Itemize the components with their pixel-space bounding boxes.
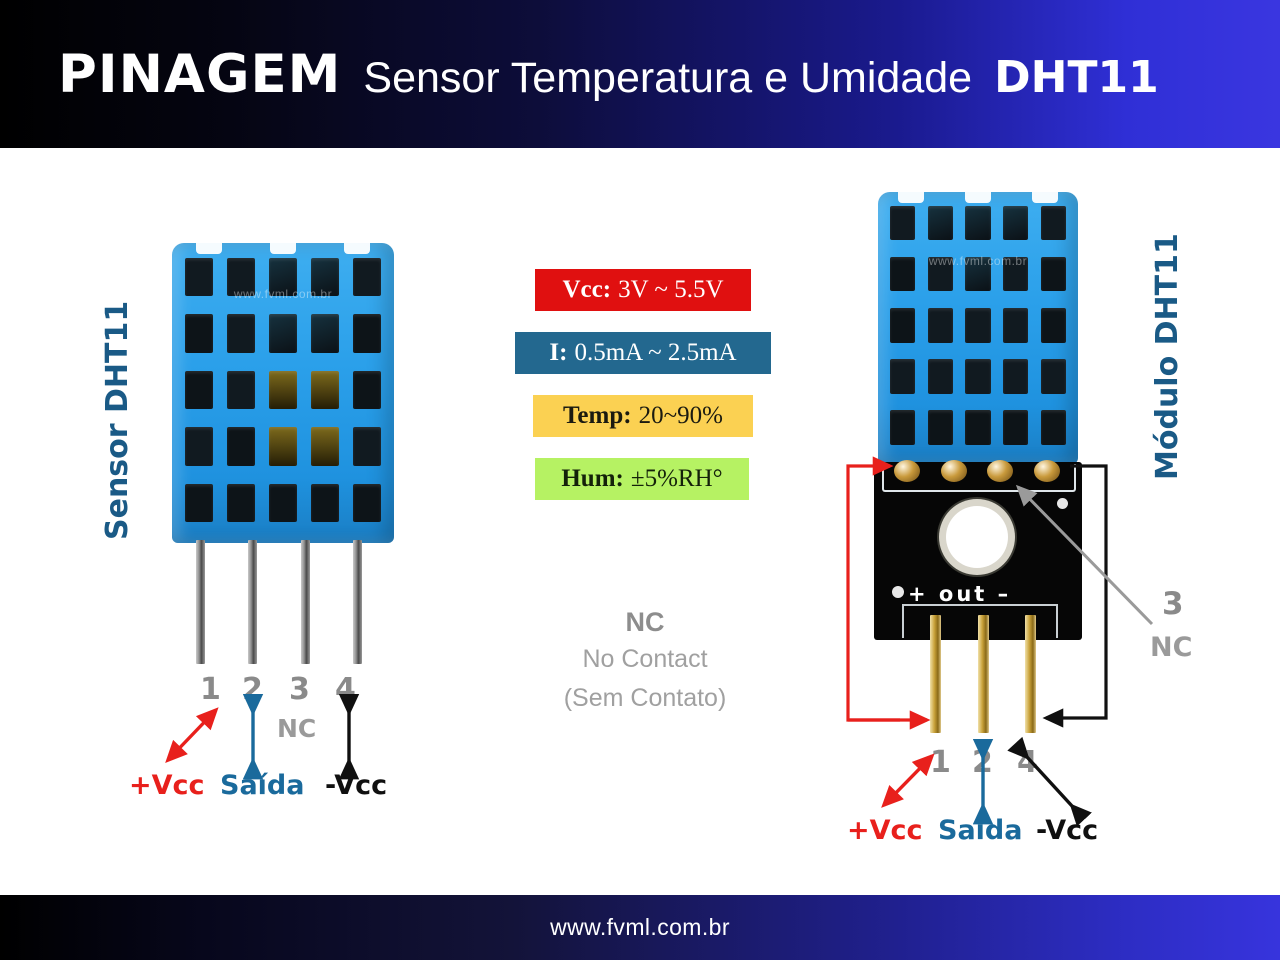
nc-note-line-1: No Contact: [520, 640, 770, 679]
module-nc-marker: NC: [1150, 632, 1192, 663]
pin: [196, 540, 205, 664]
nc-note: NC No Contact (Sem Contato): [520, 604, 770, 718]
header-subtitle: Sensor Temperatura e Umidade: [363, 57, 972, 100]
module-sensor-grille: [890, 206, 1066, 445]
dht11-sensor-image: www.fvml.com.br: [172, 243, 394, 543]
module-pin-number-1: 1: [930, 745, 951, 780]
arrow-module-vcc: [884, 756, 932, 805]
module-pcb: + out –: [874, 462, 1082, 640]
spec-temperature-key: Temp:: [563, 402, 632, 430]
sensor-nc-marker: NC: [277, 714, 316, 743]
spec-temperature: Temp: 20~90%: [533, 395, 753, 437]
notch: [1032, 192, 1058, 203]
notch: [270, 243, 296, 254]
pcb-pin1-marker: [892, 586, 904, 598]
pcb-silkscreen-label: + out –: [908, 582, 1048, 606]
spec-current-key: I:: [549, 339, 567, 367]
notch: [196, 243, 222, 254]
page-title: PINAGEM: [58, 48, 341, 101]
notch: [344, 243, 370, 254]
pcb-mounting-hole: [946, 506, 1008, 568]
sensor-pin-number-3: 3: [289, 672, 310, 707]
solder-joint: [987, 460, 1013, 482]
spec-humidity-value: ±5%RH°: [631, 465, 723, 493]
spec-vcc-key: Vcc:: [562, 276, 611, 304]
footer-url: www.fvml.com.br: [550, 914, 730, 941]
spec-current: I: 0.5mA ~ 2.5mA: [515, 332, 771, 374]
header-title-group: PINAGEM Sensor Temperatura e Umidade DHT…: [0, 48, 1159, 101]
watermark: www.fvml.com.br: [929, 254, 1027, 268]
sensor-pins: [196, 540, 362, 664]
notch: [898, 192, 924, 203]
module-pin-number-2: 2: [972, 745, 993, 780]
module-pin-number-4: 4: [1017, 745, 1038, 780]
sensor-pin-number-2: 2: [242, 672, 263, 707]
sensor-blue-housing: www.fvml.com.br: [172, 243, 394, 543]
pin: [930, 615, 941, 733]
spec-vcc-value: 3V ~ 5.5V: [618, 276, 723, 304]
sensor-signal-vcc-plus: +Vcc: [129, 770, 205, 801]
module-signal-saida: Saída: [938, 815, 1022, 846]
solder-joint: [894, 460, 920, 482]
specs-list: Vcc: 3V ~ 5.5V I: 0.5mA ~ 2.5mA Temp: 20…: [533, 269, 769, 521]
module-signal-vcc-plus: +Vcc: [847, 815, 923, 846]
module-nc-pin-number: 3: [1162, 586, 1184, 622]
spec-vcc: Vcc: 3V ~ 5.5V: [535, 269, 751, 311]
sensor-pin-number-1: 1: [200, 672, 221, 707]
nc-note-title: NC: [520, 604, 770, 640]
spec-temperature-value: 20~90%: [639, 402, 723, 430]
infographic-page: PINAGEM Sensor Temperatura e Umidade DHT…: [0, 0, 1280, 960]
spec-humidity: Hum: ±5%RH°: [535, 458, 749, 500]
module-signal-vcc-minus: -Vcc: [1036, 815, 1098, 846]
pin: [1025, 615, 1036, 733]
header-part-number: DHT11: [994, 56, 1159, 100]
pin: [978, 615, 989, 733]
spec-current-value: 0.5mA ~ 2.5mA: [574, 339, 736, 367]
pcb-solder-joints: [884, 458, 1070, 484]
left-section-label: Sensor DHT11: [100, 301, 135, 540]
nc-note-line-2: (Sem Contato): [520, 679, 770, 718]
module-blue-housing: www.fvml.com.br: [878, 192, 1078, 464]
right-section-label: Módulo DHT11: [1150, 233, 1185, 480]
module-pins: [930, 615, 1036, 733]
sensor-pin-number-4: 4: [335, 672, 356, 707]
watermark: www.fvml.com.br: [234, 287, 332, 301]
pin: [353, 540, 362, 664]
pin: [301, 540, 310, 664]
arrow-sensor-vcc: [168, 710, 216, 760]
sensor-top-notches: [172, 243, 394, 259]
dht11-module-sensor-image: www.fvml.com.br: [878, 192, 1078, 464]
solder-joint: [1034, 460, 1060, 482]
solder-joint: [941, 460, 967, 482]
spec-humidity-key: Hum:: [561, 465, 624, 493]
sensor-signal-saida: Saída: [220, 770, 304, 801]
sensor-signal-vcc-minus: -Vcc: [325, 770, 387, 801]
notch: [965, 192, 991, 203]
pin: [248, 540, 257, 664]
footer-bar: www.fvml.com.br: [0, 895, 1280, 960]
pcb-pad: [1057, 498, 1068, 509]
header-bar: PINAGEM Sensor Temperatura e Umidade DHT…: [0, 0, 1280, 148]
